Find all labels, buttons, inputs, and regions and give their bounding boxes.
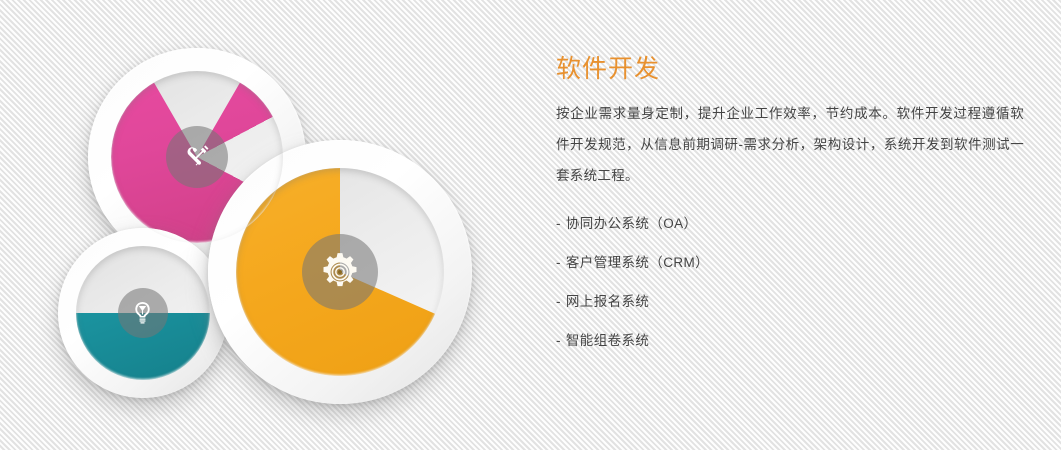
tools-icon — [182, 142, 212, 172]
feature-list: -协同办公系统（OA） -客户管理系统（CRM） -网上报名系统 -智能组卷系统 — [556, 217, 1036, 348]
page-root: 软件开发 按企业需求量身定制，提升企业工作效率，节约成本。软件开发过程遵循软件开… — [0, 0, 1061, 450]
lightbulb-icon-hub — [118, 288, 168, 338]
bullet-marker: - — [556, 294, 561, 309]
list-item: -智能组卷系统 — [556, 334, 1036, 349]
service-illustration — [0, 0, 520, 450]
gear-disc — [208, 140, 472, 404]
idea-disc-well — [76, 246, 210, 380]
lightbulb-icon — [130, 300, 155, 325]
bullet-marker: - — [556, 333, 561, 348]
list-item: -网上报名系统 — [556, 295, 1036, 310]
list-item-label: 协同办公系统（OA） — [566, 216, 698, 231]
list-item-label: 网上报名系统 — [566, 294, 649, 309]
service-content: 软件开发 按企业需求量身定制，提升企业工作效率，节约成本。软件开发过程遵循软件开… — [556, 54, 1036, 349]
page-title: 软件开发 — [556, 54, 1036, 84]
list-item: -客户管理系统（CRM） — [556, 256, 1036, 271]
bullet-marker: - — [556, 255, 561, 270]
list-item: -协同办公系统（OA） — [556, 217, 1036, 232]
idea-disc — [58, 228, 228, 398]
tools-icon-hub — [166, 126, 228, 188]
bullet-marker: - — [556, 216, 561, 231]
list-item-label: 智能组卷系统 — [566, 333, 649, 348]
description-paragraph: 按企业需求量身定制，提升企业工作效率，节约成本。软件开发过程遵循软件开发规范，从… — [556, 98, 1024, 191]
list-item-label: 客户管理系统（CRM） — [566, 255, 709, 270]
gear-disc-well — [236, 168, 445, 377]
gear-icon — [319, 251, 361, 293]
gear-icon-hub — [302, 234, 378, 310]
